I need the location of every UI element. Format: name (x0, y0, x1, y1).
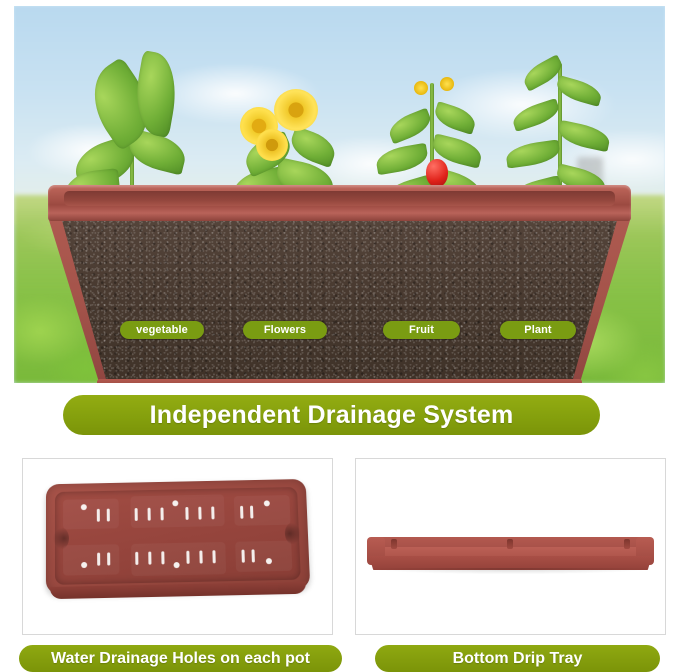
pot-side-recess (285, 522, 302, 544)
caption-bottom-drip-tray: Bottom Drip Tray (375, 645, 660, 672)
soil-label-plant: Plant (500, 321, 576, 339)
drainage-slot (97, 553, 101, 566)
planter-rim-inner-shadow (64, 191, 615, 206)
tray-drop-shadow (375, 568, 647, 574)
hero-product-photo: vegetable Flowers Fruit Plant (14, 6, 665, 383)
tomato-leaf (374, 143, 429, 176)
banner-title: Independent Drainage System (150, 401, 514, 430)
planter-soil (48, 220, 631, 380)
tray-alignment-peg (391, 539, 397, 549)
sunflower-bloom (256, 129, 288, 161)
drainage-slot (148, 552, 152, 565)
soil-label-vegetable: vegetable (120, 321, 204, 339)
pot-bottom-inner-surface (55, 487, 301, 585)
bottom-drip-tray (369, 537, 652, 569)
soil-label-flowers: Flowers (243, 321, 327, 339)
pot-bottom-view (46, 479, 310, 594)
planter-box (48, 185, 631, 383)
drainage-hole (174, 562, 180, 568)
caption-right-text: Bottom Drip Tray (453, 650, 583, 668)
pepper-leaf (505, 139, 562, 168)
drainage-hole (172, 500, 178, 506)
tomato-leaf (432, 101, 479, 135)
drainage-holes-panel (22, 458, 333, 635)
drainage-slot (135, 508, 139, 521)
drainage-hole (266, 558, 272, 564)
pot-recess-pad (63, 499, 119, 530)
tomato-blossom (440, 77, 454, 91)
tray-alignment-peg (624, 539, 630, 549)
independent-drainage-system-banner: Independent Drainage System (63, 395, 600, 435)
sunflower-bloom (274, 89, 318, 131)
caption-water-drainage-holes: Water Drainage Holes on each pot (19, 645, 342, 672)
tray-alignment-peg (507, 539, 513, 549)
drainage-slot (107, 509, 111, 522)
tomato-fruit (426, 159, 448, 187)
pepper-leaf (510, 98, 562, 132)
tomato-leaf (385, 108, 434, 145)
drainage-slot (148, 508, 152, 521)
pot-recess-pad (63, 544, 119, 575)
drip-tray-panel (355, 458, 666, 635)
drainage-hole (264, 500, 270, 506)
soil-label-fruit: Fruit (383, 321, 460, 339)
planter-foot-rim (97, 379, 582, 383)
drainage-slot (97, 509, 100, 522)
caption-left-text: Water Drainage Holes on each pot (51, 650, 310, 668)
tomato-blossom (414, 81, 428, 95)
drainage-slot (135, 552, 139, 565)
pepper-leaf (556, 120, 611, 152)
pot-bottom-lip (50, 582, 306, 600)
drainage-slot (107, 552, 111, 565)
planter-rim (48, 185, 631, 221)
